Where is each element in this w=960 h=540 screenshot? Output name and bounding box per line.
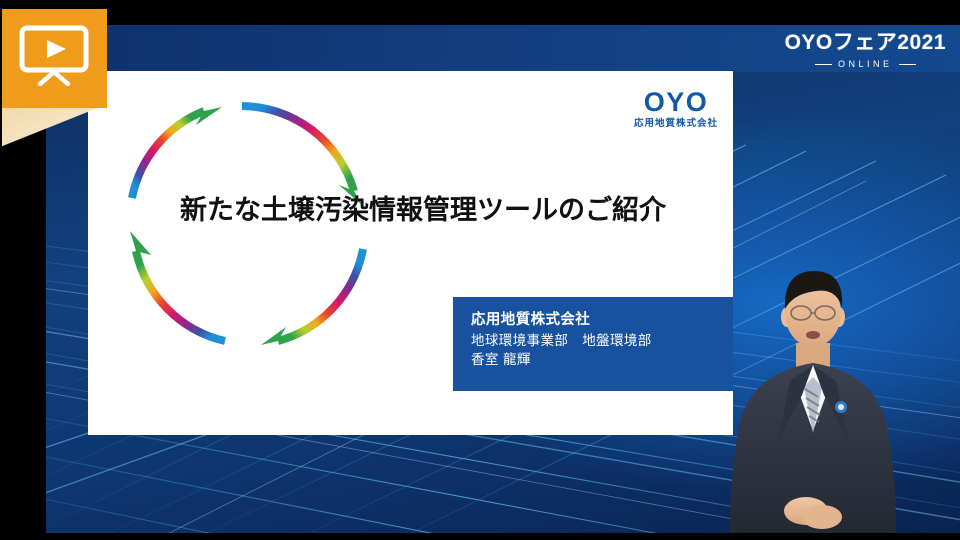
fair-logo-subtitle: ONLINE xyxy=(785,60,946,69)
presentation-slide: OYO 応用地質株式会社 xyxy=(88,71,733,435)
presenter-info-box: 応用地質株式会社 地球環境事業部 地盤環境部 香室 龍輝 xyxy=(453,297,733,391)
video-player-stage: OYOフェア2021 ONLINE OYO 応用地質株式会社 xyxy=(0,0,960,540)
letterbox-top xyxy=(0,0,960,25)
fair-logo: OYOフェア2021 ONLINE xyxy=(785,32,946,69)
info-presenter-name: 香室 龍輝 xyxy=(471,350,733,370)
video-badge[interactable] xyxy=(2,9,107,108)
oyo-logo: OYO 応用地質株式会社 xyxy=(634,89,718,129)
info-company: 応用地質株式会社 xyxy=(471,311,733,331)
letterbox-bottom xyxy=(0,533,960,540)
oyo-wordmark: OYO xyxy=(634,89,718,116)
video-monitor-play-icon xyxy=(18,24,90,86)
presenter-video-figure xyxy=(718,255,908,533)
slide-title: 新たな土壌汚染情報管理ツールのご紹介 xyxy=(180,188,666,227)
fair-logo-title: OYOフェア2021 xyxy=(785,32,946,53)
info-department: 地球環境事業部 地盤環境部 xyxy=(471,331,733,351)
oyo-company-jp: 応用地質株式会社 xyxy=(634,119,718,129)
